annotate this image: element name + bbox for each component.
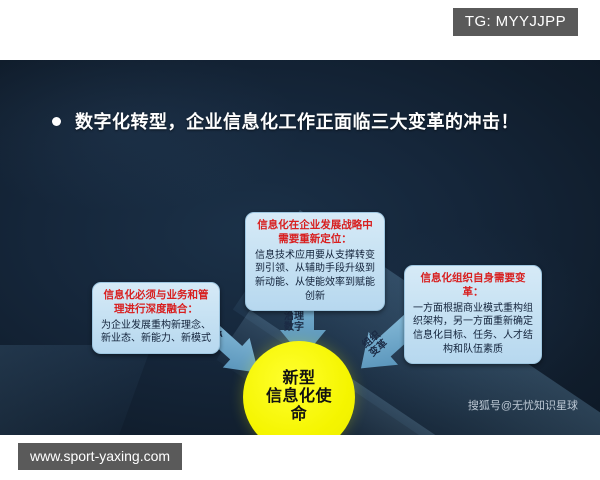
bottom-white-band: www.sport-yaxing.com (0, 435, 600, 480)
top-white-band: TG: MYYJJPP (0, 0, 600, 60)
arrow-right-label: 组织 变革 (361, 330, 390, 359)
core-text-line2: 信息化使 (266, 388, 332, 405)
callout-title-organization: 信息化组织自身需要变革： (412, 272, 534, 300)
core-text-line1: 新型 (282, 370, 315, 387)
core-text-line3: 命 (291, 406, 308, 423)
arrow-center-label: 治理 数字 (284, 312, 304, 333)
site-url-badge: www.sport-yaxing.com (18, 443, 182, 470)
callout-box-fusion: 信息化必须与业务和管理进行深度融合： 为企业发展重构新理念、新业态、新能力、新模… (92, 282, 220, 354)
callout-title-repositioning: 信息化在企业发展战略中需要重新定位： (253, 219, 377, 247)
slide-headline: 数字化转型，企业信息化工作正面临三大变革的冲击！ (52, 108, 519, 134)
slide-canvas: 数字化转型，企业信息化工作正面临三大变革的冲击！ 融合 创新 (0, 60, 600, 435)
callout-body-fusion: 为企业发展重构新理念、新业态、新能力、新模式 (100, 319, 212, 346)
callout-title-fusion: 信息化必须与业务和管理进行深度融合： (100, 289, 212, 317)
arrow-center-label-line1: 治理 (284, 311, 304, 322)
callout-box-repositioning: 信息化在企业发展战略中需要重新定位： 信息技术应用要从支撑转变到引领、从辅助手段… (245, 212, 385, 311)
callout-box-organization: 信息化组织自身需要变革： 一方面根据商业模式重构组织架构，另一方面重新确定信息化… (404, 265, 542, 364)
core-mission-circle: 新型 信息化使 命 (243, 341, 355, 435)
sohu-watermark: 搜狐号@无忧知识星球 (468, 397, 578, 413)
callout-body-repositioning: 信息技术应用要从支撑转变到引领、从辅助手段升级到新动能、从使能效率到赋能创新 (253, 249, 377, 303)
callout-body-organization: 一方面根据商业模式重构组织架构，另一方面重新确定信息化目标、任务、人才结构和队伍… (412, 302, 534, 356)
core-mission-text: 新型 信息化使 命 (266, 370, 332, 425)
arrow-center-label-line2: 数字 (284, 322, 304, 333)
headline-text: 数字化转型，企业信息化工作正面临三大变革的冲击！ (75, 108, 519, 134)
decorative-corner-shape (0, 345, 152, 435)
bullet-dot-icon (52, 117, 61, 126)
tg-badge: TG: MYYJJPP (453, 8, 578, 36)
